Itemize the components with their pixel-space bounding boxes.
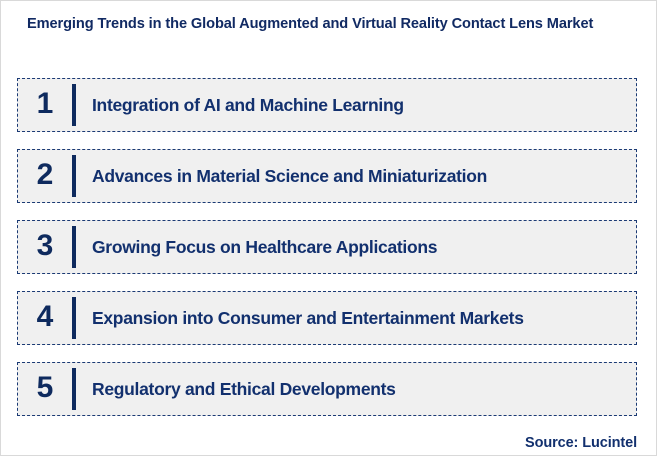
page-title: Emerging Trends in the Global Augmented …	[27, 16, 637, 32]
trend-number: 3	[18, 231, 72, 263]
trend-list: 1 Integration of AI and Machine Learning…	[17, 78, 637, 416]
list-item[interactable]: 1 Integration of AI and Machine Learning	[17, 78, 637, 132]
list-item[interactable]: 2 Advances in Material Science and Minia…	[17, 149, 637, 203]
trend-label: Regulatory and Ethical Developments	[76, 379, 636, 400]
list-item[interactable]: 4 Expansion into Consumer and Entertainm…	[17, 291, 637, 345]
trend-label: Advances in Material Science and Miniatu…	[76, 166, 636, 187]
trend-label: Integration of AI and Machine Learning	[76, 95, 636, 116]
source-attribution: Source: Lucintel	[525, 435, 637, 451]
trend-label: Expansion into Consumer and Entertainmen…	[76, 308, 636, 329]
trend-number: 4	[18, 302, 72, 334]
trend-number: 2	[18, 160, 72, 192]
trend-number: 1	[18, 89, 72, 121]
list-item[interactable]: 5 Regulatory and Ethical Developments	[17, 362, 637, 416]
trend-label: Growing Focus on Healthcare Applications	[76, 237, 636, 258]
infographic-canvas: Emerging Trends in the Global Augmented …	[0, 0, 657, 456]
trend-number: 5	[18, 373, 72, 405]
list-item[interactable]: 3 Growing Focus on Healthcare Applicatio…	[17, 220, 637, 274]
